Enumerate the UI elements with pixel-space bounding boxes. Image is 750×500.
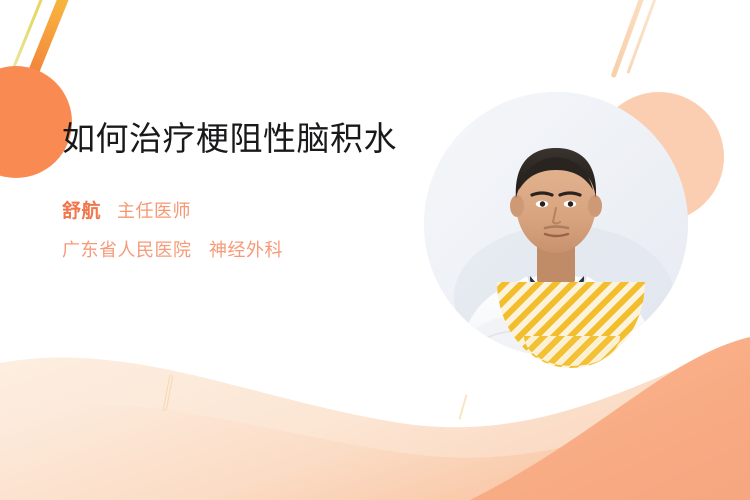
stripe-top-right-b-icon: [626, 0, 666, 74]
hospital-name: 广东省人民医院: [62, 240, 192, 260]
stripe-thick-top-left-icon: [25, 0, 76, 82]
doctor-affiliation: 广东省人民医院 神经外科: [62, 236, 422, 262]
doctor-rank: 主任医师: [117, 197, 191, 223]
stripe-thin-top-left-icon: [5, 0, 49, 87]
text-block: 如何治疗梗阻性脑积水 舒航 主任医师 广东省人民医院 神经外科: [62, 118, 422, 262]
stripe-top-right-a-icon: [611, 0, 653, 78]
doctor-name: 舒航: [62, 196, 101, 223]
wave-decoration: [0, 315, 750, 500]
doctor-byline: 舒航 主任医师: [62, 196, 422, 223]
department-name: 神经外科: [209, 240, 283, 260]
doctor-info-card: 如何治疗梗阻性脑积水 舒航 主任医师 广东省人民医院 神经外科: [0, 0, 750, 500]
page-title: 如何治疗梗阻性脑积水: [62, 118, 402, 160]
